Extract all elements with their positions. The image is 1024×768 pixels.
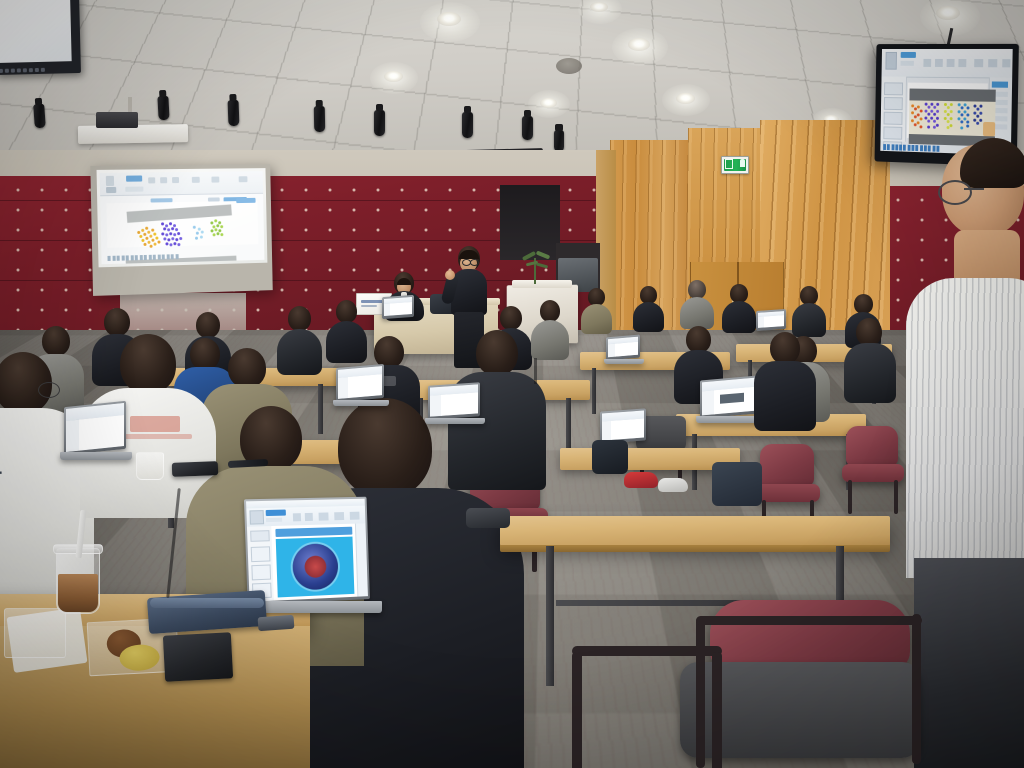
track-spotlight — [157, 96, 169, 121]
usb-device — [258, 615, 295, 631]
shirt-print-line — [122, 434, 192, 439]
ribbon-icon[interactable] — [935, 59, 943, 67]
panel-header — [992, 81, 1008, 87]
bag-under-chair — [466, 508, 510, 528]
torso — [906, 278, 1024, 578]
panel-item[interactable] — [884, 82, 903, 95]
plant-decor — [520, 252, 554, 284]
ribbon-icon[interactable] — [958, 59, 966, 67]
downlight — [437, 12, 461, 26]
app-canvas — [271, 524, 358, 601]
trousers — [914, 558, 1024, 768]
ribbon-icon[interactable] — [1002, 59, 1010, 67]
track-spotlight — [228, 100, 240, 126]
laptop-screen — [702, 378, 756, 416]
app-right-panel — [355, 523, 368, 596]
shirt-text-line1: RIT — [0, 468, 3, 492]
glasses-bridge — [964, 188, 984, 190]
smartphone[interactable] — [163, 632, 233, 681]
track-spotlight — [522, 116, 533, 140]
exit-door-icon — [725, 159, 733, 169]
panel-item[interactable] — [884, 97, 903, 110]
laptop-screen — [602, 411, 644, 441]
pastry-yellow — [119, 644, 160, 672]
ribbon-tab-active[interactable] — [266, 510, 286, 517]
projected-ribbon — [100, 171, 263, 196]
ribbon-icon[interactable] — [160, 177, 167, 183]
wafer-view — [276, 537, 355, 598]
classroom-photo-scene: RIT TEAM — [0, 0, 1024, 768]
shoe-red — [624, 472, 658, 488]
track-spotlight — [33, 104, 46, 129]
eyeglass-case-highlight — [150, 598, 264, 608]
exit-sign — [721, 156, 749, 174]
shirt-print — [130, 416, 180, 432]
hand — [445, 270, 455, 280]
table-leg — [318, 384, 323, 434]
ribbon-icon[interactable] — [192, 177, 200, 183]
downlight — [676, 93, 695, 104]
laptop-screen — [608, 337, 638, 358]
phone-mid[interactable] — [172, 461, 218, 477]
table-leg — [566, 398, 571, 454]
exit-running-man-icon — [740, 159, 745, 167]
track-spotlight — [462, 112, 473, 138]
shoe-white — [658, 478, 688, 492]
tv-ribbon — [882, 49, 1013, 79]
corner-monitor — [0, 0, 81, 75]
projector — [96, 112, 138, 128]
wall-alcove — [500, 185, 560, 260]
panel-item[interactable] — [884, 112, 903, 125]
projector-screen[interactable] — [90, 164, 272, 296]
laptop-screen — [758, 311, 784, 328]
tv-left-panel — [880, 76, 907, 141]
corner-monitor-buttons — [0, 68, 45, 73]
ribbon-icon[interactable] — [239, 176, 248, 182]
track-spotlight — [554, 130, 564, 152]
ribbon-icon[interactable] — [148, 177, 155, 183]
glasses — [470, 259, 479, 266]
cluster-amber-faint — [983, 122, 995, 137]
ribbon-icon[interactable] — [106, 176, 114, 186]
track-spotlight — [374, 110, 385, 136]
downlight — [384, 71, 403, 82]
tv-canvas — [907, 83, 988, 141]
projected-application — [100, 171, 265, 264]
downlight — [540, 98, 557, 108]
laptop-screen — [430, 384, 478, 416]
glasses — [938, 180, 972, 205]
ribbon-icon[interactable] — [106, 187, 116, 193]
projector-screen-surface — [97, 168, 268, 267]
laptop-screen — [66, 403, 124, 452]
panel-item[interactable] — [883, 126, 902, 139]
cup-secondary — [4, 608, 66, 658]
iced-coffee-cup — [56, 548, 100, 614]
table-leg — [546, 546, 554, 686]
ribbon-icon[interactable] — [172, 177, 179, 183]
laptop-screen — [384, 297, 412, 316]
ribbon-icon[interactable] — [211, 177, 219, 183]
ribbon-icon[interactable] — [923, 59, 931, 67]
ribbon-tab-active[interactable] — [901, 52, 916, 58]
foreground-laptop-screen — [246, 499, 368, 602]
track-spotlight — [314, 106, 325, 132]
canvas-header — [275, 527, 352, 537]
ribbon-preview-icon[interactable] — [885, 52, 897, 70]
downlight — [936, 6, 960, 20]
hair — [459, 250, 479, 259]
cup-mid — [136, 452, 164, 480]
ribbon-icon[interactable] — [947, 59, 955, 67]
downlight — [628, 38, 650, 51]
ribbon-icon[interactable] — [125, 187, 143, 192]
backpack — [712, 462, 762, 506]
bag-floor — [592, 440, 628, 474]
ribbon-tab-active[interactable] — [126, 175, 142, 181]
cable — [534, 358, 537, 384]
ribbon-icon[interactable] — [974, 59, 983, 67]
downlight — [590, 2, 608, 12]
hair — [397, 278, 411, 285]
laptop-screen — [338, 366, 382, 399]
corner-monitor-screen — [0, 0, 72, 63]
ribbon-chip[interactable] — [901, 61, 914, 66]
ribbon-icon[interactable] — [988, 59, 997, 67]
table-leg — [592, 368, 596, 414]
table-foreground-right — [500, 516, 890, 546]
smoke-detector-icon — [556, 58, 582, 74]
glasses — [38, 382, 60, 398]
right-toolbar-chip[interactable] — [236, 198, 255, 203]
projected-canvas — [106, 201, 258, 248]
